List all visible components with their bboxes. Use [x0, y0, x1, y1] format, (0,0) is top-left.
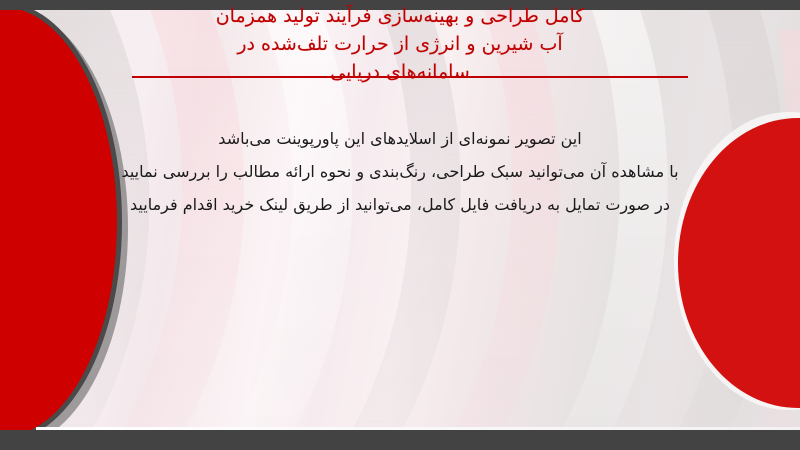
body-line-3: در صورت تمایل به دریافت فایل کامل، می‌تو… [0, 188, 800, 221]
presentation-slide: کامل طراحی و بهینه‌سازی فرآیند تولید همز… [0, 0, 800, 450]
title-line-1: کامل طراحی و بهینه‌سازی فرآیند تولید همز… [0, 2, 800, 30]
slide-body-text: این تصویر نمونه‌ای از اسلایدهای این پاور… [0, 122, 800, 221]
title-line-3: سامانه‌های دریایی [0, 58, 800, 86]
title-line-2: آب شیرین و انرژی از حرارت تلف‌شده در [0, 30, 800, 58]
slide-frame-bottom [0, 430, 800, 450]
slide-title: کامل طراحی و بهینه‌سازی فرآیند تولید همز… [0, 2, 800, 86]
title-underline-rule [132, 76, 688, 78]
body-line-2: با مشاهده آن می‌توانید سبک طراحی، رنگ‌بن… [0, 155, 800, 188]
body-line-1: این تصویر نمونه‌ای از اسلایدهای این پاور… [0, 122, 800, 155]
